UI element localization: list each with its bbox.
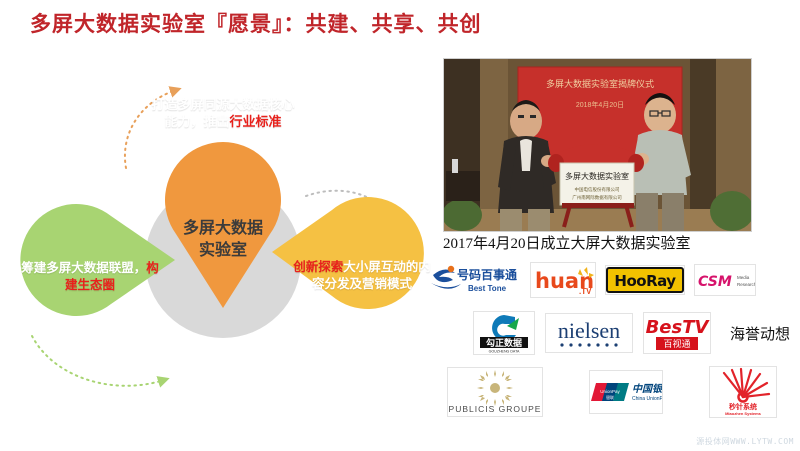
venn-petal-yellow [272, 197, 424, 309]
svg-text:中国电信股份有限公司: 中国电信股份有限公司 [575, 186, 620, 193]
china-unionpay-mark-icon: UnionPay 银联 中国银联 China UnionPay [590, 371, 662, 413]
logo-nielsen: nielsen [545, 313, 633, 353]
hooray-mark-icon: HooRay [606, 266, 684, 294]
svg-text:Research: Research [737, 282, 755, 287]
logo-publicis-groupe: PUBLICIS GROUPE [447, 367, 543, 417]
logo-gouzheng-data: 勾正数据 GOUZHENG DATA [473, 311, 535, 355]
venn-diagram: 打造多屏同源大数据核心能力，推出行业标准 筹建多屏大数据联盟，构建生态圈 创新探… [10, 48, 430, 398]
photo-illustration: 多屏大数据实验室揭牌仪式 2018年4月20日 [444, 59, 751, 231]
nielsen-mark-icon: nielsen [546, 314, 632, 352]
logo-miaozhen-systems: 秒针系统 Miaozhen Systems [709, 366, 777, 418]
svg-text:秒针系统: 秒针系统 [729, 402, 757, 411]
svg-text:BesTV: BesTV [646, 317, 710, 338]
logo-best-tone: 号码百事通 Best Tone [429, 261, 521, 299]
logo-csm: CSM Media Research [694, 264, 756, 296]
haiyu-dongxiang-label: 海誉动想 [730, 323, 790, 344]
svg-text:GOUZHENG DATA: GOUZHENG DATA [489, 350, 520, 354]
logo-row-1: 号码百事通 Best Tone huan .TV HooRay [425, 258, 794, 302]
arrow-green-icon [32, 336, 164, 386]
gouzheng-data-mark-icon: 勾正数据 GOUZHENG DATA [474, 312, 534, 354]
svg-text:百视通: 百视通 [663, 338, 690, 349]
svg-text:银联: 银联 [606, 394, 614, 400]
svg-text:nielsen: nielsen [558, 318, 620, 343]
svg-text:PUBLICIS GROUPE: PUBLICIS GROUPE [449, 404, 542, 414]
svg-text:广州南网际数据有限公司: 广州南网际数据有限公司 [572, 194, 622, 201]
svg-text:Media: Media [737, 275, 750, 280]
venn-shapes [10, 48, 430, 398]
venn-petal-green [20, 204, 175, 316]
logo-huan-tv: huan .TV [530, 262, 596, 298]
bestv-mark-icon: BesTV 百视通 [644, 313, 710, 353]
svg-text:.TV: .TV [579, 287, 592, 296]
logo-hooray: HooRay [605, 265, 685, 295]
logo-haiyu-dongxiang: 海誉动想 [721, 318, 799, 348]
page-title: 多屏大数据实验室『愿景』：共建、共享、共创 [30, 8, 482, 38]
svg-text:China UnionPay: China UnionPay [632, 396, 662, 402]
arrow-orange-icon [125, 90, 176, 168]
logo-bestv: BesTV 百视通 [643, 312, 711, 354]
svg-text:勾正数据: 勾正数据 [486, 337, 522, 348]
svg-text:多屏大数据实验室揭牌仪式: 多屏大数据实验室揭牌仪式 [546, 78, 654, 89]
svg-text:中国银联: 中国银联 [632, 383, 662, 395]
svg-text:多屏大数据实验室: 多屏大数据实验室 [565, 171, 629, 181]
svg-text:号码百事通: 号码百事通 [457, 267, 517, 282]
svg-text:Miaozhen Systems: Miaozhen Systems [725, 411, 762, 416]
csm-mark-icon: CSM Media Research [695, 265, 755, 295]
photo-caption: 2017年4月20日成立大屏大数据实验室 [443, 232, 691, 253]
partner-logos: 号码百事通 Best Tone huan .TV HooRay [425, 258, 790, 423]
watermark: 源投体网WWW.LYTW.COM [696, 436, 794, 447]
logo-row-2: 勾正数据 GOUZHENG DATA nielsen BesTV [425, 310, 800, 356]
slide-canvas: 多屏大数据实验室『愿景』：共建、共享、共创 [0, 0, 800, 451]
logo-china-unionpay: UnionPay 银联 中国银联 China UnionPay [589, 370, 663, 414]
svg-text:2018年4月20日: 2018年4月20日 [576, 100, 624, 109]
svg-text:HooRay: HooRay [614, 272, 676, 290]
huan-tv-mark-icon: huan .TV [531, 263, 595, 297]
svg-text:CSM: CSM [698, 274, 732, 290]
svg-text:Best Tone: Best Tone [468, 284, 507, 293]
publicis-groupe-mark-icon: PUBLICIS GROUPE [448, 368, 542, 416]
miaozhen-systems-mark-icon: 秒针系统 Miaozhen Systems [710, 367, 776, 417]
svg-text:UnionPay: UnionPay [600, 389, 620, 394]
logo-row-3: PUBLICIS GROUPE UnionPay 银联 中国银联 China U… [425, 366, 800, 418]
best-tone-mark-icon: 号码百事通 Best Tone [429, 261, 521, 299]
ceremony-photo: 多屏大数据实验室揭牌仪式 2018年4月20日 [443, 58, 752, 232]
